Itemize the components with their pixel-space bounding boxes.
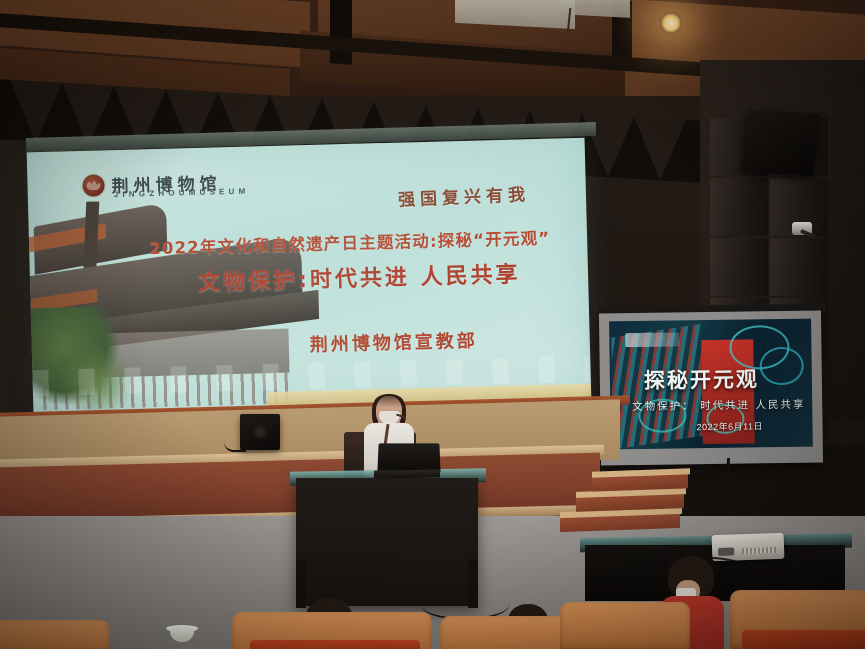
slide-line-3: 荆州博物馆宣教部 [309,327,478,357]
speaker-cable [224,440,246,452]
side-projection-screen[interactable]: 探秘开元观 文物保护： 时代共进 人民共享 2022年6月11日 [599,310,823,465]
wall-speaker-icon [742,110,821,176]
podium-leg [296,560,306,608]
floor-speaker-icon [240,414,280,450]
side-screen-surface: 探秘开元观 文物保护： 时代共进 人民共享 2022年6月11日 [609,319,813,450]
auditorium-seat[interactable] [0,620,110,649]
projector-vent [742,547,776,554]
side-screen-title: 探秘开元观 [644,363,759,395]
side-screen-logo-icon [625,332,679,347]
speaker-cone [252,425,268,439]
podium-desk [296,478,478,606]
side-screen-date: 2022年6月11日 [696,419,763,433]
auditorium-seat-base[interactable] [742,630,865,649]
ceiling-beam [330,0,352,65]
projector-lens [718,547,734,556]
screen-surface: 荆州博物馆 JINGZHOUMUSEUM 强国复兴有我 2022年文化和自然遗产… [27,138,592,415]
ceiling-spotlight-icon [660,12,682,34]
main-projection-screen[interactable]: 荆州博物馆 JINGZHOUMUSEUM 强国复兴有我 2022年文化和自然遗产… [27,138,592,415]
slide-slogan: 强国复兴有我 [397,180,530,211]
stage-steps [560,470,700,540]
auditorium-seat[interactable] [560,602,690,649]
side-screen-subtitle: 文物保护： 时代共进 人民共享 [632,397,805,414]
auditorium-seat-base[interactable] [250,640,420,649]
lecture-hall-photo: 荆州博物馆 JINGZHOUMUSEUM 强国复兴有我 2022年文化和自然遗产… [0,0,865,649]
museum-logo-icon [82,174,105,197]
